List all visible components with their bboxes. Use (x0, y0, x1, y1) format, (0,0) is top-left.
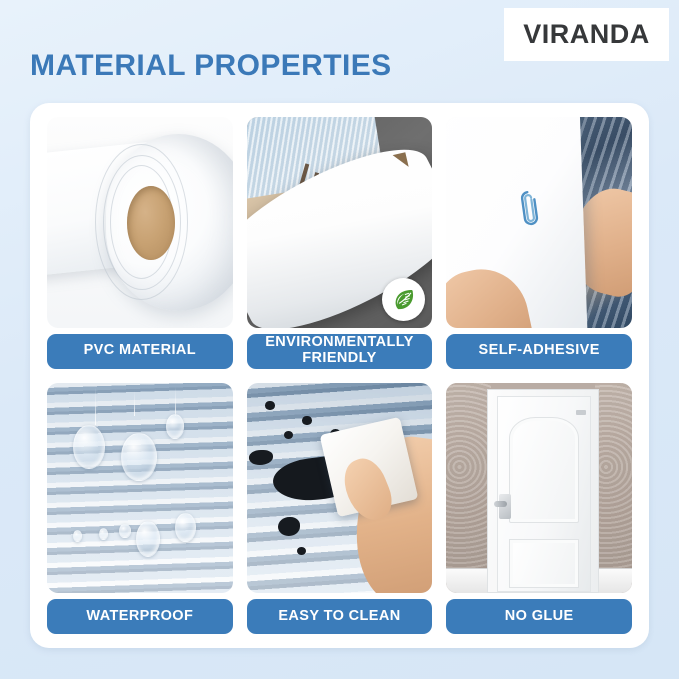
drop-trail-3 (175, 387, 176, 416)
feature-card-self-adhesive[interactable]: SELF-ADHESIVE (446, 117, 632, 369)
feature-label-waterproof: WATERPROOF (47, 599, 233, 634)
water-drop-5 (175, 513, 195, 542)
water-drop-4 (136, 521, 160, 557)
feature-label-self-adhesive: SELF-ADHESIVE (446, 334, 632, 369)
brand-logo-box: VIRANDA (504, 8, 669, 61)
water-drop-8 (119, 524, 130, 539)
water-drop-6 (73, 530, 82, 543)
wall-right (595, 383, 632, 594)
brand-name: VIRANDA (523, 19, 650, 50)
water-drop-1 (73, 425, 105, 469)
eco-badge (382, 278, 425, 321)
door-handle (499, 494, 511, 519)
water-drop-3 (166, 414, 185, 439)
feature-label-no-glue: NO GLUE (446, 599, 632, 634)
door-frame (487, 389, 598, 593)
stain-dot-2 (302, 416, 311, 424)
feature-card-easy-to-clean[interactable]: EASY TO CLEAN (247, 383, 433, 635)
peeling-backing-image (446, 117, 632, 328)
feature-card-pvc-material[interactable]: PVC MATERIAL (47, 117, 233, 369)
roll-cardboard-core (127, 186, 175, 260)
water-drop-2 (121, 433, 156, 481)
feature-card-no-glue[interactable]: NO GLUE (446, 383, 632, 635)
vinyl-roll-image (47, 117, 233, 328)
rolled-wallpaper-image (247, 117, 433, 328)
stain-dot-5 (249, 450, 273, 465)
features-panel: PVC MATERIAL (30, 103, 649, 648)
stain-dot-7 (297, 547, 306, 555)
water-droplets-image (47, 383, 233, 594)
wall-left (446, 383, 491, 594)
stain-dot-3 (284, 431, 293, 439)
white-door-image (446, 383, 632, 594)
stain-dot-1 (265, 401, 274, 409)
baseboard-left (446, 568, 491, 593)
door-latch (576, 410, 586, 416)
drop-trail-1 (95, 387, 96, 425)
feature-label-environmentally-friendly: ENVIRONMENTALLY FRIENDLY (247, 334, 433, 369)
door-panel-bottom (509, 539, 579, 588)
door-panel-top (509, 417, 579, 523)
drop-trail-2 (134, 391, 135, 416)
wiping-sponge-image (247, 383, 433, 594)
feature-card-environmentally-friendly[interactable]: ENVIRONMENTALLY FRIENDLY (247, 117, 433, 369)
feature-label-easy-to-clean: EASY TO CLEAN (247, 599, 433, 634)
baseboard-right (595, 568, 632, 593)
feature-card-waterproof[interactable]: WATERPROOF (47, 383, 233, 635)
water-drop-7 (99, 528, 108, 541)
page-title: MATERIAL PROPERTIES (30, 49, 392, 83)
features-grid: PVC MATERIAL (47, 117, 632, 634)
door-leaf (497, 396, 591, 592)
roll-corner-tip (393, 152, 409, 170)
leaf-icon (390, 286, 417, 313)
stain-dot-6 (278, 517, 300, 536)
feature-label-pvc-material: PVC MATERIAL (47, 334, 233, 369)
